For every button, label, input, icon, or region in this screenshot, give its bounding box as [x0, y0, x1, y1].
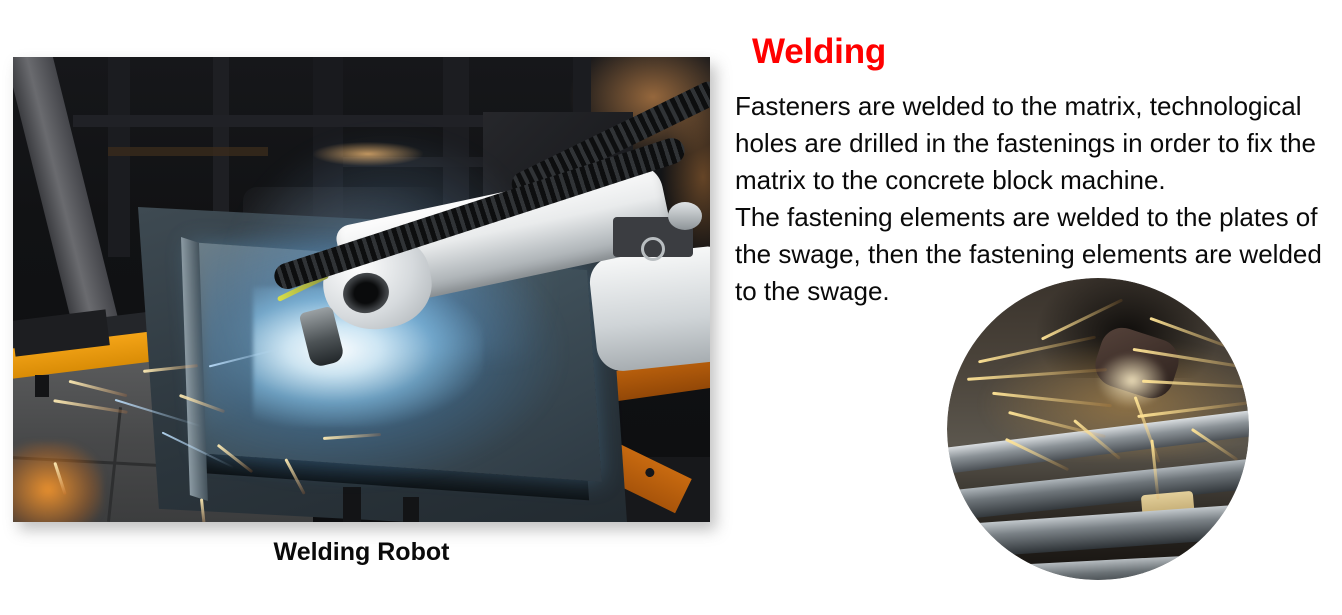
background-beam — [73, 115, 493, 127]
robot-arm-base — [587, 246, 710, 374]
slide-root: Welding Robot Welding Fasteners are weld… — [0, 0, 1342, 615]
machine-leg — [35, 375, 49, 397]
background-beam — [108, 57, 130, 257]
welding-robot-photo-canvas — [13, 57, 710, 522]
bolt-hole — [644, 467, 656, 479]
welding-robot-photo — [13, 57, 710, 522]
machine-leg — [343, 487, 361, 522]
floor-orange-glow — [13, 442, 103, 522]
background-cylinder — [668, 202, 702, 230]
body-text: Fasteners are welded to the matrix, tech… — [735, 88, 1335, 310]
figure-caption: Welding Robot — [13, 538, 710, 567]
section-heading: Welding — [752, 33, 886, 72]
welding-sparks-circle — [947, 278, 1249, 580]
background-ring — [641, 237, 665, 261]
paragraph-1: Fasteners are welded to the matrix, tech… — [735, 88, 1335, 199]
machine-leg — [403, 497, 419, 522]
